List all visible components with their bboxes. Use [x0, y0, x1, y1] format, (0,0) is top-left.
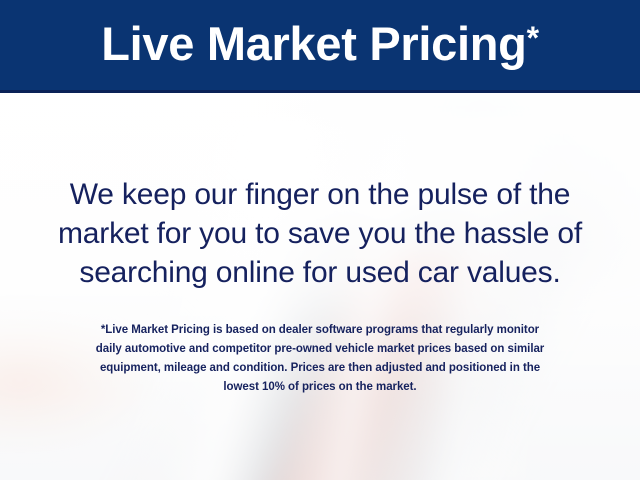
header-bar: Live Market Pricing*	[0, 0, 640, 93]
disclaimer-text: *Live Market Pricing is based on dealer …	[20, 321, 620, 397]
disclaimer-line-1: *Live Market Pricing is based on dealer …	[20, 321, 620, 340]
disclaimer-line-3: equipment, mileage and condition. Prices…	[20, 359, 620, 378]
disclaimer-line-2: daily automotive and competitor pre-owne…	[20, 340, 620, 359]
headline-line-3: searching online for used car values.	[22, 253, 618, 292]
disclaimer-line-4: lowest 10% of prices on the market.	[20, 378, 620, 397]
headline: We keep our finger on the pulse of the m…	[22, 175, 618, 292]
headline-line-2: market for you to save you the hassle of	[22, 214, 618, 253]
page-title: Live Market Pricing*	[101, 20, 538, 71]
headline-line-1: We keep our finger on the pulse of the	[22, 175, 618, 214]
page-title-text: Live Market Pricing	[101, 17, 526, 70]
page-title-footnote-marker: *	[527, 20, 539, 56]
live-market-pricing-banner: Live Market Pricing* We keep our finger …	[0, 0, 640, 480]
content-area: We keep our finger on the pulse of the m…	[0, 93, 640, 480]
